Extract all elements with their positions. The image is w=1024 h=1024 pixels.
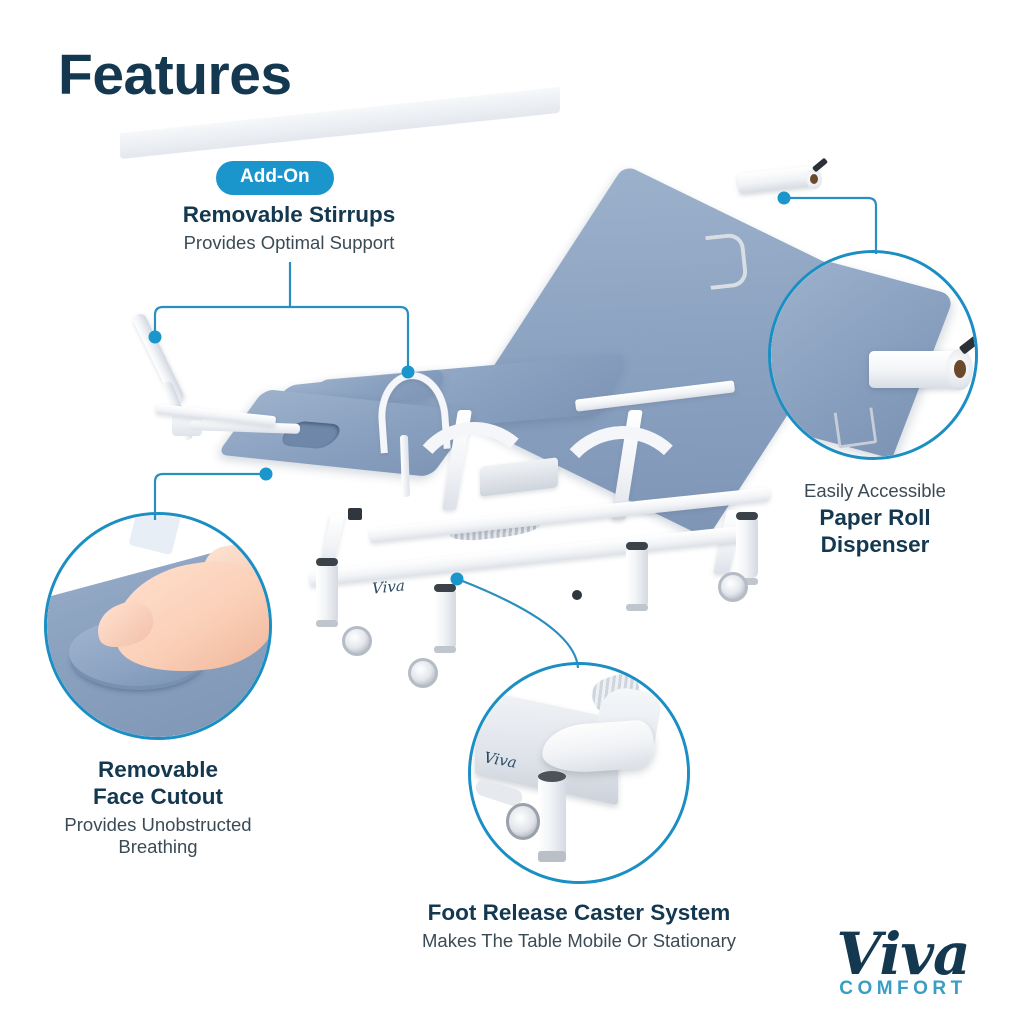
- table-leg-back-right: [736, 516, 758, 578]
- infographic-page: Features Viva: [0, 0, 1024, 1024]
- feature-subtitle-face-cutout-line1: Provides Unobstructed: [38, 814, 278, 836]
- paper-roll-photo: [771, 253, 975, 457]
- paper-roll-pin: [812, 158, 828, 173]
- paper-roll-core-closeup: [954, 360, 966, 378]
- stirrup-detached-upper: [132, 312, 186, 404]
- table-leg-cap-back-left: [626, 542, 648, 550]
- face-cutout-photo: [47, 515, 269, 737]
- feature-title-paper-roll-line1: Paper Roll: [790, 505, 960, 532]
- table-leg-foot-front-right: [434, 646, 456, 653]
- feature-title-stirrups: Removable Stirrups: [172, 202, 406, 229]
- paper-roll-rod: [737, 166, 817, 194]
- feature-text-caster-system: Foot Release Caster System Makes The Tab…: [379, 900, 779, 952]
- feature-subtitle-stirrups: Provides Optimal Support: [172, 232, 406, 254]
- frame-knob-2: [572, 590, 582, 600]
- caster-system-photo: Viva: [471, 665, 687, 881]
- feature-title-face-cutout-line2: Face Cutout: [38, 784, 278, 811]
- table-leg-cap-front-right: [434, 584, 456, 592]
- table-leg-foot-back-left: [626, 604, 648, 611]
- frame-knob-1: [348, 508, 362, 520]
- frame-logo: Viva: [372, 576, 405, 597]
- feature-subtitle-face-cutout-line2: Breathing: [38, 836, 278, 858]
- caster-front-right: [408, 658, 438, 688]
- caster-back-right: [718, 572, 748, 602]
- feature-eyebrow-paper-roll: Easily Accessible: [790, 480, 960, 502]
- leg-column-foot: [538, 851, 566, 862]
- paper-roll-bracket: [834, 408, 877, 449]
- feature-text-removable-stirrups: Removable Stirrups Provides Optimal Supp…: [172, 202, 406, 254]
- table-leg-foot-front-left: [316, 620, 338, 627]
- feature-text-face-cutout: Removable Face Cutout Provides Unobstruc…: [38, 757, 278, 858]
- page-title: Features: [58, 47, 292, 104]
- paper-roll-core: [810, 174, 818, 184]
- caster-wheel-closeup: [506, 803, 541, 840]
- leg-column-cap: [538, 771, 566, 782]
- table-leg-cap-back-right: [736, 512, 758, 520]
- backrest-handle: [705, 232, 748, 290]
- feature-title-face-cutout-line1: Removable: [38, 757, 278, 784]
- caster-front-left: [342, 626, 372, 656]
- feature-text-paper-roll: Easily Accessible Paper Roll Dispenser: [790, 480, 960, 558]
- callout-circle-paper-roll: [768, 250, 978, 460]
- table-leg-front-right: [434, 588, 456, 650]
- table-leg-front-left: [316, 562, 338, 624]
- table-leg-cap-front-left: [316, 558, 338, 566]
- feature-title-paper-roll-line2: Dispenser: [790, 532, 960, 559]
- callout-circle-caster-system: Viva: [468, 662, 690, 884]
- brand-logo: Viva COMFORT: [808, 927, 998, 1000]
- add-on-badge: Add-On: [216, 161, 334, 195]
- callout-circle-face-cutout: [44, 512, 272, 740]
- table-leg-back-left: [626, 546, 648, 608]
- feature-subtitle-caster-system: Makes The Table Mobile Or Stationary: [379, 930, 779, 952]
- logo-wordmark: Viva: [808, 927, 998, 982]
- leg-column: [538, 771, 566, 862]
- feature-title-caster-system: Foot Release Caster System: [379, 900, 779, 927]
